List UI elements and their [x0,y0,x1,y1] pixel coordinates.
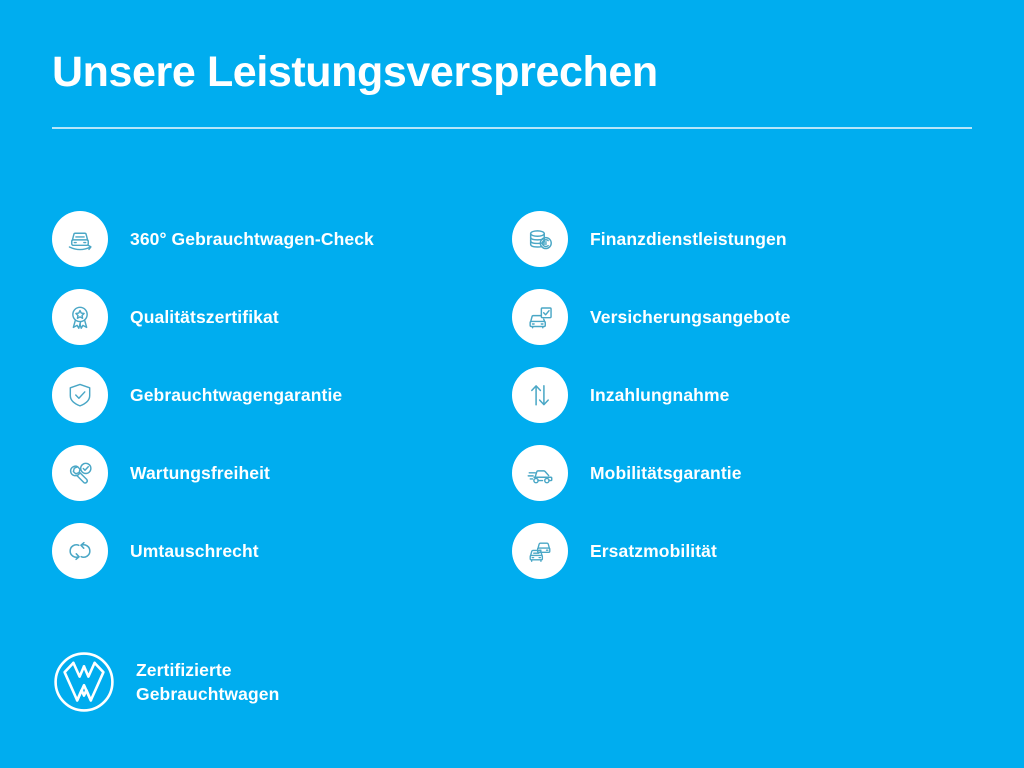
promise-panel: Unsere Leistungsversprechen 360° Gebrauc… [0,0,1024,768]
car-motion-icon [512,445,568,501]
award-rosette-icon [52,289,108,345]
car-document-check-icon [512,289,568,345]
page-title: Unsere Leistungsversprechen [52,46,972,98]
brand-text: Zertifizierte Gebrauchtwagen [136,658,279,706]
brand-text-line1: Zertifizierte [136,658,279,682]
exchange-arrows-icon [52,523,108,579]
benefit-item-wartungsfreiheit[interactable]: Wartungsfreiheit [52,434,512,512]
benefit-label: Inzahlungnahme [590,384,729,406]
header: Unsere Leistungsversprechen [52,46,972,129]
benefit-label: Mobilitätsgarantie [590,462,742,484]
car-360-check-icon [52,211,108,267]
title-divider [52,127,972,129]
brand-lockup: Zertifizierte Gebrauchtwagen [52,650,279,714]
two-cars-icon [512,523,568,579]
benefit-item-inzahlungnahme[interactable]: Inzahlungnahme [512,356,972,434]
benefit-item-umtauschrecht[interactable]: Umtauschrecht [52,512,512,590]
benefit-item-finanzdienstleistungen[interactable]: Finanzdienstleistungen [512,200,972,278]
benefit-item-qualitaetszertifikat[interactable]: Qualitätszertifikat [52,278,512,356]
benefit-label: Ersatzmobilität [590,540,717,562]
benefit-item-gebrauchtwagen-check[interactable]: 360° Gebrauchtwagen-Check [52,200,512,278]
benefit-label: Qualitätszertifikat [130,306,279,328]
wrench-check-icon [52,445,108,501]
benefit-item-versicherungsangebote[interactable]: Versicherungsangebote [512,278,972,356]
coins-euro-icon [512,211,568,267]
benefit-label: 360° Gebrauchtwagen-Check [130,228,374,250]
shield-check-icon [52,367,108,423]
benefit-label: Wartungsfreiheit [130,462,270,484]
benefit-label: Umtauschrecht [130,540,259,562]
benefit-label: Finanzdienstleistungen [590,228,787,250]
benefits-grid: 360° Gebrauchtwagen-Check Finanzdienstle… [52,200,972,590]
volkswagen-logo-icon [52,650,116,714]
brand-text-line2: Gebrauchtwagen [136,682,279,706]
benefit-item-mobilitaetsgarantie[interactable]: Mobilitätsgarantie [512,434,972,512]
benefit-item-gebrauchtwagengarantie[interactable]: Gebrauchtwagengarantie [52,356,512,434]
benefit-label: Versicherungsangebote [590,306,791,328]
benefit-label: Gebrauchtwagengarantie [130,384,342,406]
benefit-item-ersatzmobilitaet[interactable]: Ersatzmobilität [512,512,972,590]
arrows-up-down-icon [512,367,568,423]
